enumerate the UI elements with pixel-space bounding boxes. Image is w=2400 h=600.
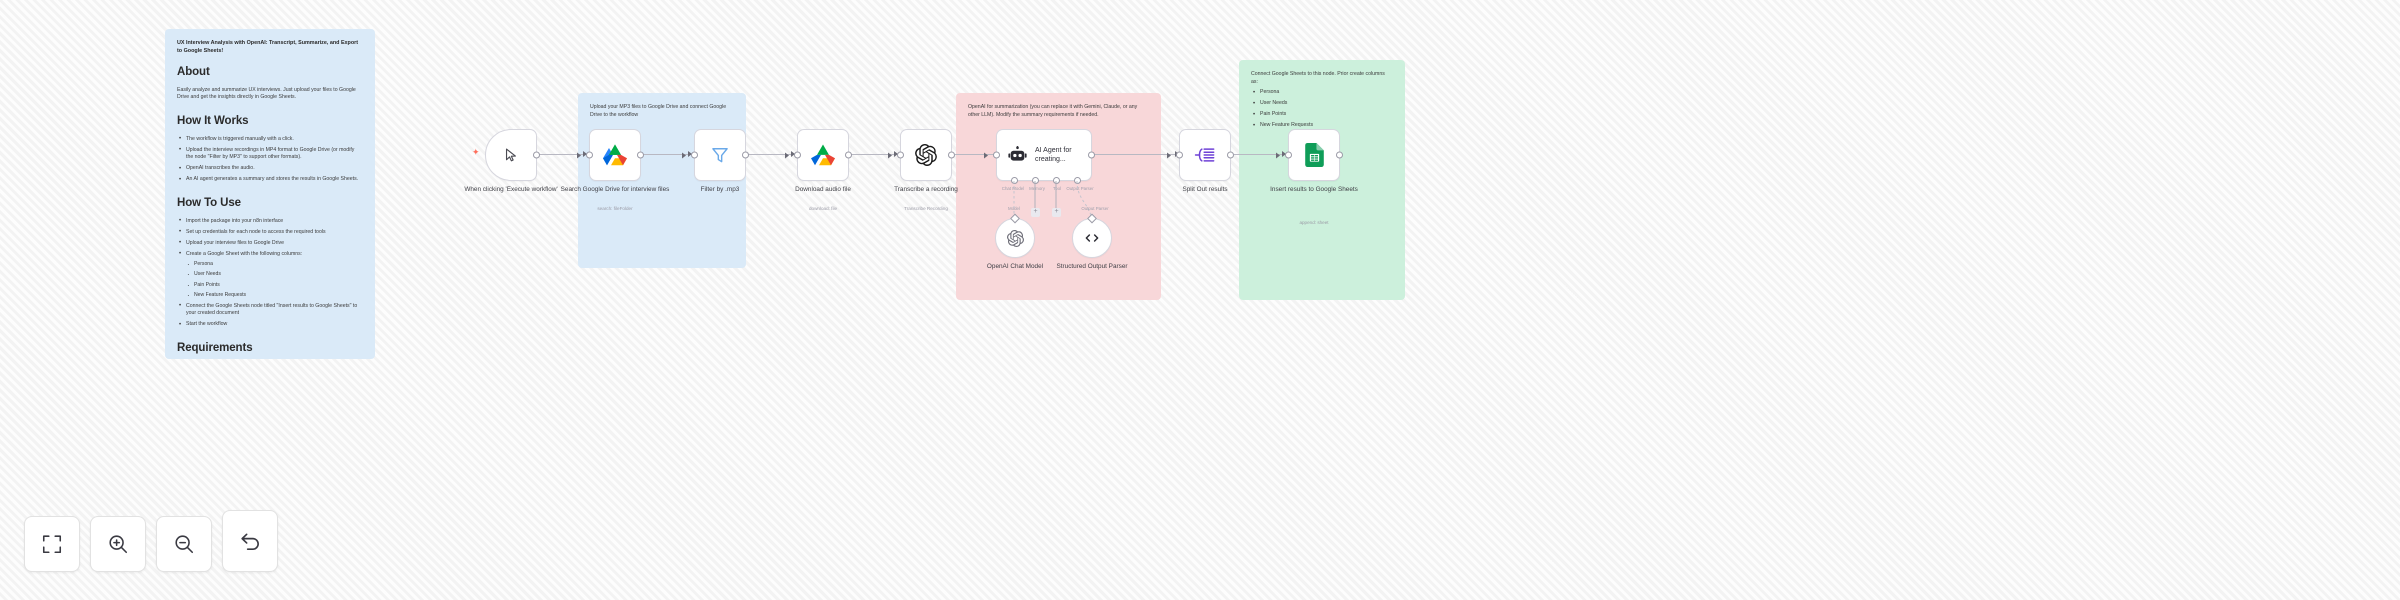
list-item: The workflow is triggered manually with … — [177, 136, 363, 144]
node-openai-chat-model[interactable]: OpenAI Chat Model — [995, 218, 1035, 258]
sticky-note-openai-text: OpenAI for summarization (you can replac… — [968, 103, 1149, 119]
how-it-works-list: The workflow is triggered manually with … — [177, 136, 363, 185]
edge-arrow-icon — [682, 152, 686, 158]
input-port[interactable] — [586, 152, 593, 159]
sticky-note-sheets-intro: Connect Google Sheets to this node. Prio… — [1251, 71, 1385, 85]
edge-arrow-icon — [785, 152, 789, 158]
zoom-in-icon — [107, 533, 129, 555]
output-port[interactable] — [533, 152, 540, 159]
sticky-note-drive-text: Upload your MP3 files to Google Drive an… — [590, 103, 734, 119]
input-port[interactable] — [691, 152, 698, 159]
node-split-out-results[interactable]: Split Out results — [1179, 129, 1231, 181]
list-item-text: Create a Google Sheet with the following… — [186, 251, 302, 257]
how-it-works-heading: How It Works — [177, 113, 363, 130]
node-sublabel: append: sheet — [1254, 220, 1374, 226]
split-out-icon — [1194, 146, 1216, 164]
node-structured-output-parser[interactable]: Structured Output Parser — [1072, 218, 1112, 258]
node-label: Search Google Drive for interview files — [555, 186, 675, 195]
zoom-in-button[interactable] — [90, 516, 146, 572]
openai-icon — [1007, 230, 1024, 247]
trigger-bolt-icon: ✦ — [472, 147, 480, 158]
zoom-out-button[interactable] — [156, 516, 212, 572]
list-item: Persona — [1251, 89, 1393, 97]
output-port[interactable] — [1227, 152, 1234, 159]
filter-icon — [710, 145, 730, 165]
node-search-google-drive[interactable]: Search Google Drive for interview files … — [589, 129, 641, 181]
list-item: User Needs — [186, 271, 363, 279]
about-text: Easily analyze and summarize UX intervie… — [177, 87, 363, 102]
node-download-audio-file[interactable]: Download audio file download: file — [797, 129, 849, 181]
input-port[interactable] — [1176, 152, 1183, 159]
node-ai-agent[interactable]: AI Agent for creating... — [996, 129, 1092, 181]
edge-arrow-icon — [1167, 152, 1171, 158]
reset-zoom-button[interactable] — [222, 510, 278, 572]
list-item: Create a Google Sheet with the following… — [177, 251, 363, 300]
node-insert-results-to-google-sheets[interactable]: Insert results to Google Sheets append: … — [1288, 129, 1340, 181]
edge-arrow-icon — [888, 152, 892, 158]
node-label: When clicking 'Execute workflow' — [451, 186, 571, 195]
node-label: Insert results to Google Sheets — [1254, 186, 1374, 195]
node-label: Structured Output Parser — [1042, 263, 1142, 272]
cursor-icon — [503, 147, 520, 164]
node-label: Filter by .mp3 — [660, 186, 780, 195]
node-label: Split Out results — [1145, 186, 1265, 195]
documentation-title: UX Interview Analysis with OpenAI: Trans… — [177, 39, 363, 55]
edge-arrow-icon — [1276, 152, 1280, 158]
node-sublabel: download: file — [763, 206, 883, 212]
workflow-canvas[interactable]: Upload your MP3 files to Google Drive an… — [0, 0, 2400, 600]
sticky-note-documentation[interactable]: UX Interview Analysis with OpenAI: Trans… — [165, 29, 375, 359]
add-memory-button[interactable]: + — [1031, 208, 1040, 217]
input-port[interactable] — [897, 152, 904, 159]
google-drive-icon — [811, 144, 835, 166]
edge-agent-to-splitout — [1089, 154, 1177, 155]
list-item: Set up credentials for each node to acce… — [177, 229, 363, 237]
google-drive-icon — [603, 144, 627, 166]
add-tool-button[interactable]: + — [1052, 208, 1061, 217]
input-port[interactable] — [1285, 152, 1292, 159]
list-item: Pain Points — [186, 282, 363, 290]
list-item: OpenAI transcribes the audio. — [177, 165, 363, 173]
node-label: AI Agent for creating... — [1035, 146, 1091, 165]
robot-icon — [1007, 145, 1028, 166]
list-item: Connect the Google Sheets node titled "I… — [177, 303, 363, 319]
list-item: Start the workflow — [177, 321, 363, 329]
zoom-to-fit-button[interactable] — [24, 516, 80, 572]
zoom-out-icon — [173, 533, 195, 555]
output-port[interactable] — [637, 152, 644, 159]
node-label: Download audio file — [763, 186, 883, 195]
node-sublabel: search: fileFolder — [555, 206, 675, 212]
sticky-note-sheets-text: Connect Google Sheets to this node. Prio… — [1251, 70, 1393, 130]
node-filter-by-mp3[interactable]: Filter by .mp3 — [694, 129, 746, 181]
node-label: Transcribe a recording — [866, 186, 986, 195]
google-sheets-icon — [1305, 143, 1324, 167]
input-port[interactable] — [993, 152, 1000, 159]
output-port[interactable] — [845, 152, 852, 159]
node-transcribe-a-recording[interactable]: Transcribe a recording Transcribe Record… — [900, 129, 952, 181]
how-to-use-list: Import the package into your n8n interfa… — [177, 218, 363, 329]
subnode-label-output-parser: Output Parser — [1081, 206, 1108, 211]
list-item: Import the package into your n8n interfa… — [177, 218, 363, 226]
output-port[interactable] — [1336, 152, 1343, 159]
list-item: Upload the interview recordings in MP4 f… — [177, 147, 363, 163]
edge-arrow-icon — [577, 152, 581, 158]
how-to-use-heading: How To Use — [177, 195, 363, 212]
node-when-clicking-execute-workflow[interactable]: When clicking 'Execute workflow' — [485, 129, 537, 181]
fit-screen-icon — [41, 533, 63, 555]
output-port[interactable] — [742, 152, 749, 159]
sheet-columns-list: Persona User Needs Pain Points New Featu… — [186, 261, 363, 299]
list-item: New Feature Requests — [186, 292, 363, 300]
input-port[interactable] — [794, 152, 801, 159]
sticky-note-sheets-columns: Persona User Needs Pain Points New Featu… — [1251, 89, 1393, 130]
openai-icon — [915, 144, 937, 166]
code-icon — [1083, 229, 1101, 247]
output-port[interactable] — [1088, 152, 1095, 159]
list-item: User Needs — [1251, 100, 1393, 108]
output-port[interactable] — [948, 152, 955, 159]
list-item: Upload your interview files to Google Dr… — [177, 240, 363, 248]
subnode-label-model: Model — [1008, 206, 1020, 211]
node-sublabel: Transcribe Recording — [866, 206, 986, 212]
edge-arrow-icon — [984, 152, 988, 158]
requirements-heading: Requirements — [177, 340, 363, 357]
list-item: An AI agent generates a summary and stor… — [177, 176, 363, 184]
list-item: Pain Points — [1251, 111, 1393, 119]
canvas-zoom-toolbar[interactable] — [24, 510, 278, 572]
about-heading: About — [177, 64, 363, 81]
list-item: Persona — [186, 261, 363, 269]
undo-icon — [239, 530, 262, 553]
